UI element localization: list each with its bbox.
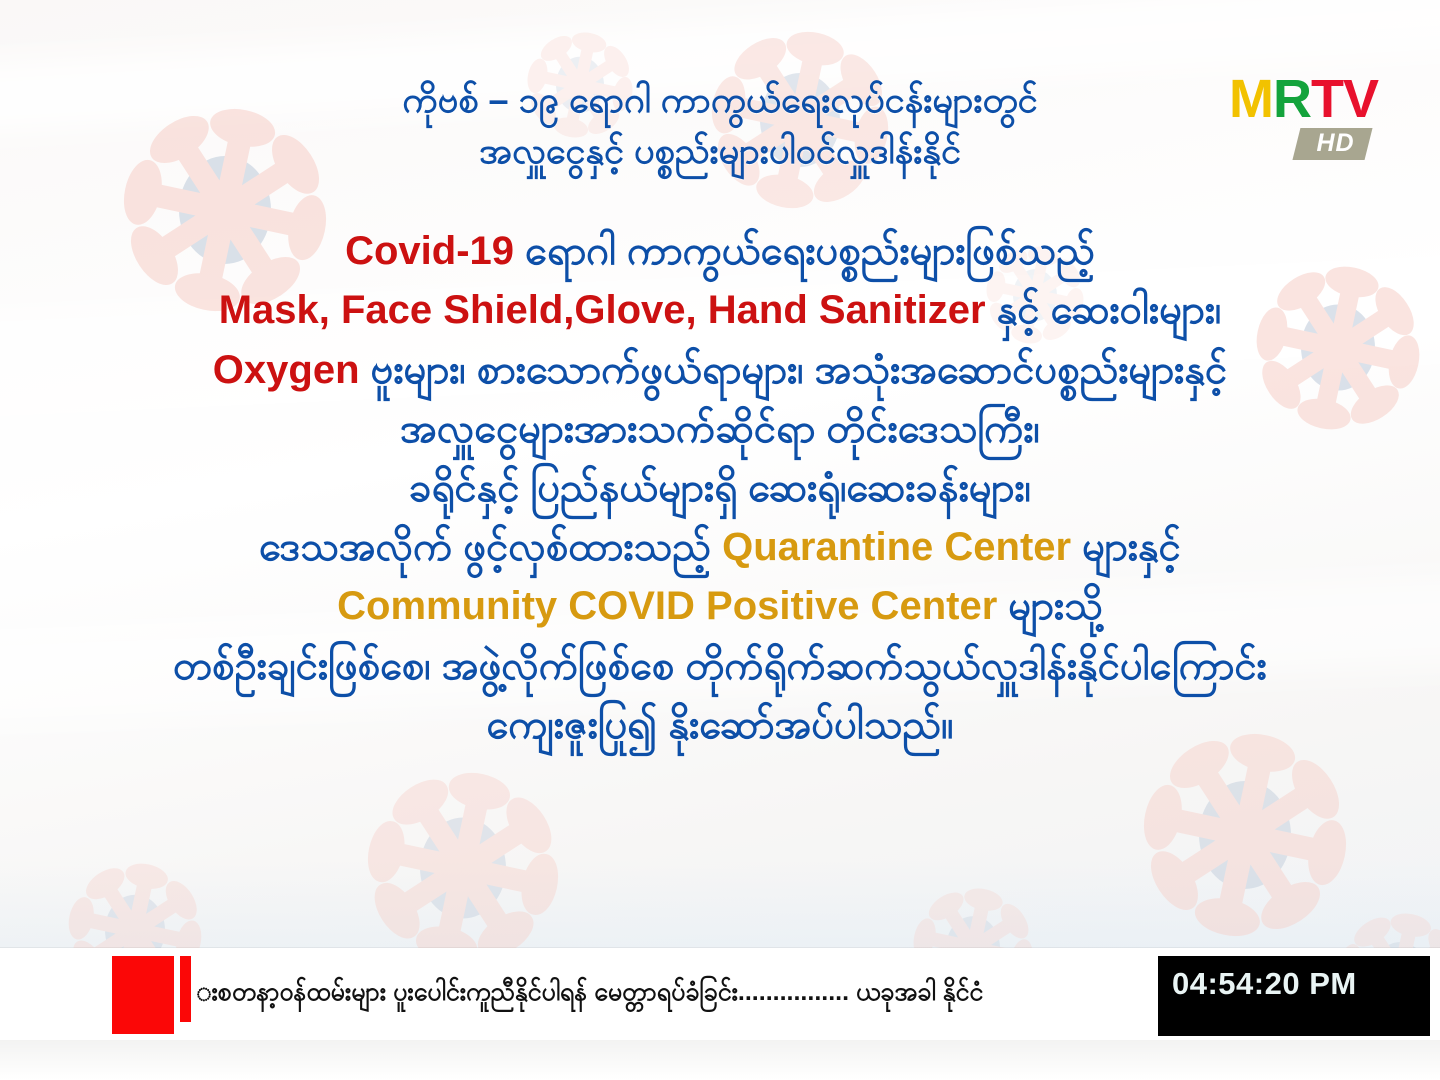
body-text-segment: နှင့် ဆေးဝါးများ၊ (986, 288, 1222, 332)
body-text-segment: ဒေသအလိုက် ဖွင့်လှစ်ထားသည့် (259, 525, 722, 569)
ticker-bottom-fade (0, 1040, 1440, 1080)
body-text-segment: Mask, Face Shield,Glove, Hand Sanitizer (219, 288, 986, 332)
body-line: Mask, Face Shield,Glove, Hand Sanitizer … (0, 281, 1440, 340)
body-line: ခရိုင်နှင့် ပြည်နယ်များရှိ ဆေးရုံ၊ဆေးခန်… (0, 459, 1440, 518)
ticker-red-block (112, 956, 174, 1034)
body-line: အလှူငွေများအားသက်ဆိုင်ရာ တိုင်းဒေသကြီး၊ (0, 400, 1440, 459)
body-line: Community COVID Positive Center များသို့ (0, 577, 1440, 636)
body-line: ကျေးဇူးပြု၍ နိုးဆော်အပ်ပါသည်။ (0, 696, 1440, 755)
broadcast-screen: MRTV HD ကိုဗစ် – ၁၉ ရောဂါ ကာကွယ်ရေးလုပ်င… (0, 0, 1440, 1080)
body-text-segment: ခရိုင်နှင့် ပြည်နယ်များရှိ ဆေးရုံ၊ဆေးခန်… (409, 466, 1031, 510)
body-text-segment: ဗူးများ၊ စားသောက်ဖွယ်ရာများ၊ အသုံးအဆောင်… (360, 348, 1228, 392)
body-text-segment: တစ်ဦးချင်းဖြစ်စေ၊ အဖွဲ့လိုက်ဖြစ်စေ တိုက်… (173, 644, 1267, 688)
headline-line-2: အလှူငွေနှင့် ပစ္စည်းများပါဝင်လှူဒါန်းနို… (0, 125, 1440, 176)
body-text-segment: များသို့ (997, 584, 1103, 628)
headline-line-1: ကိုဗစ် – ၁၉ ရောဂါ ကာကွယ်ရေးလုပ်ငန်းများတ… (0, 74, 1440, 125)
ticker-red-stripe (180, 956, 191, 1022)
ticker-scroll-text: းစတနာ့ဝန်ထမ်းများ ပူးပေါင်းကူညီနိုင်ပါရန… (196, 948, 1166, 1040)
main-content: ကိုဗစ် – ၁၉ ရောဂါ ကာကွယ်ရေးလုပ်ငန်းများတ… (0, 0, 1440, 755)
body-text-segment: Oxygen (213, 348, 360, 392)
body-text-block: Covid-19 ရောဂါ ကာကွယ်ရေးပစ္စည်းများဖြစ်သ… (0, 222, 1440, 755)
body-text-segment: ကျေးဇူးပြု၍ နိုးဆော်အပ်ပါသည်။ (487, 703, 954, 747)
body-line: ဒေသအလိုက် ဖွင့်လှစ်ထားသည့် Quarantine Ce… (0, 518, 1440, 577)
body-text-segment: Community COVID Positive Center (337, 584, 997, 628)
body-line: Oxygen ဗူးများ၊ စားသောက်ဖွယ်ရာများ၊ အသုံ… (0, 341, 1440, 400)
clock-time: 04:54:20 PM (1172, 966, 1357, 1002)
virus-particle-icon (355, 760, 570, 975)
news-ticker-bar: းစတနာ့ဝန်ထမ်းများ ပူးပေါင်းကူညီနိုင်ပါရန… (0, 948, 1440, 1040)
body-text-segment: Covid-19 (345, 229, 514, 273)
body-text-segment: Quarantine Center (722, 525, 1071, 569)
body-line: Covid-19 ရောဂါ ကာကွယ်ရေးပစ္စည်းများဖြစ်သ… (0, 222, 1440, 281)
body-text-segment: များနှင့် (1071, 525, 1181, 569)
body-text-segment: အလှူငွေများအားသက်ဆိုင်ရာ တိုင်းဒေသကြီး၊ (400, 407, 1040, 451)
body-line: တစ်ဦးချင်းဖြစ်စေ၊ အဖွဲ့လိုက်ဖြစ်စေ တိုက်… (0, 637, 1440, 696)
clock-box: 04:54:20 PM (1158, 956, 1430, 1036)
body-text-segment: ရောဂါ ကာကွယ်ရေးပစ္စည်းများဖြစ်သည့် (514, 229, 1095, 273)
